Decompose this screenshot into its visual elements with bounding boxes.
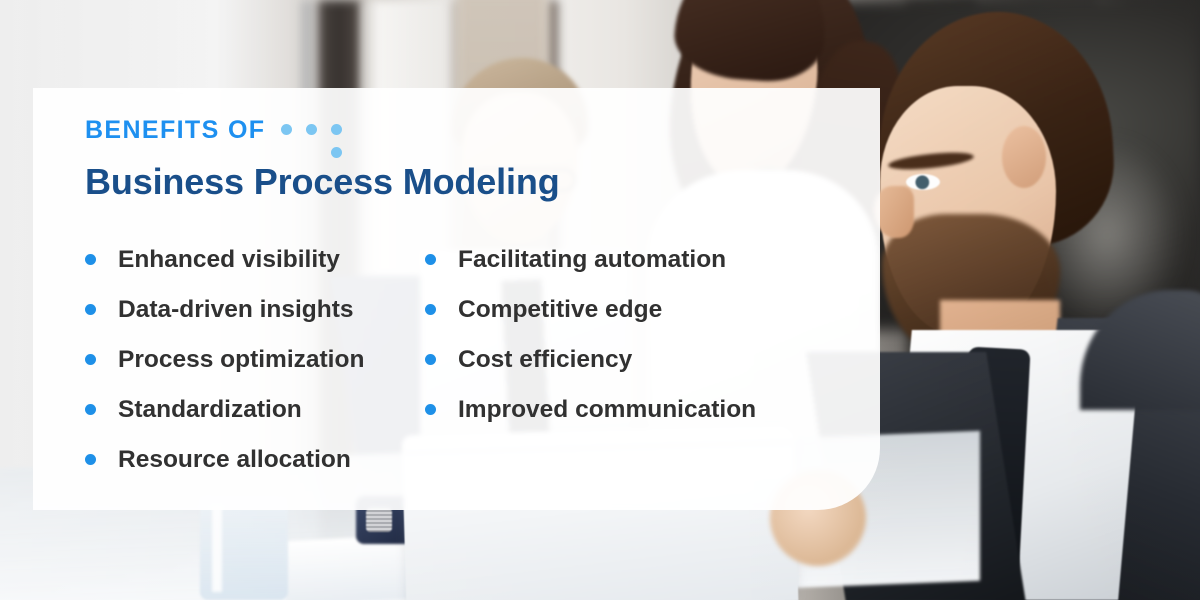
list-item: Improved communication [425, 385, 860, 435]
bullet-icon [85, 254, 96, 265]
list-item-label: Standardization [118, 398, 302, 423]
bullet-icon [425, 404, 436, 415]
list-item-label: Competitive edge [458, 298, 662, 323]
bullet-icon [85, 454, 96, 465]
card-content: BENEFITS OF Business Process Modeling En… [85, 118, 860, 485]
water-glass-highlight [212, 506, 222, 592]
benefits-lists: Enhanced visibility Data-driven insights… [85, 235, 860, 485]
content-card: BENEFITS OF Business Process Modeling En… [33, 88, 880, 510]
list-item-label: Cost efficiency [458, 348, 632, 373]
decor-dot-1-icon [281, 124, 292, 135]
benefits-column-left: Enhanced visibility Data-driven insights… [85, 235, 425, 485]
bullet-icon [425, 354, 436, 365]
eyebrow-row: BENEFITS OF [85, 118, 860, 156]
list-item-label: Data-driven insights [118, 298, 354, 323]
eyebrow-label: BENEFITS OF [85, 118, 265, 143]
list-item: Standardization [85, 385, 425, 435]
list-item: Facilitating automation [425, 235, 860, 285]
list-item-label: Resource allocation [118, 448, 351, 473]
benefits-column-right: Facilitating automation Competitive edge… [425, 235, 860, 485]
bullet-icon [85, 404, 96, 415]
list-item: Process optimization [85, 335, 425, 385]
bearded-man-ear [1002, 126, 1046, 188]
benefits-list-right: Facilitating automation Competitive edge… [425, 235, 860, 435]
seated-man-wristwatch [366, 508, 392, 532]
list-item: Data-driven insights [85, 285, 425, 335]
list-item: Resource allocation [85, 435, 425, 485]
bullet-icon [425, 254, 436, 265]
list-item-label: Facilitating automation [458, 248, 726, 273]
bullet-icon [85, 354, 96, 365]
list-item-label: Improved communication [458, 398, 756, 423]
benefits-list-left: Enhanced visibility Data-driven insights… [85, 235, 425, 485]
page-title: Business Process Modeling [85, 163, 860, 202]
list-item-label: Enhanced visibility [118, 248, 340, 273]
banner-stage: BENEFITS OF Business Process Modeling En… [0, 0, 1200, 600]
decor-dot-4-icon [331, 147, 342, 158]
list-item-label: Process optimization [118, 348, 364, 373]
bullet-icon [425, 304, 436, 315]
decor-dot-2-icon [306, 124, 317, 135]
bearded-man-nose [874, 186, 914, 238]
decorative-dots [281, 119, 353, 157]
bearded-man-eye [906, 174, 940, 190]
list-item: Cost efficiency [425, 335, 860, 385]
bullet-icon [85, 304, 96, 315]
decor-dot-3-icon [331, 124, 342, 135]
list-item: Competitive edge [425, 285, 860, 335]
list-item: Enhanced visibility [85, 235, 425, 285]
